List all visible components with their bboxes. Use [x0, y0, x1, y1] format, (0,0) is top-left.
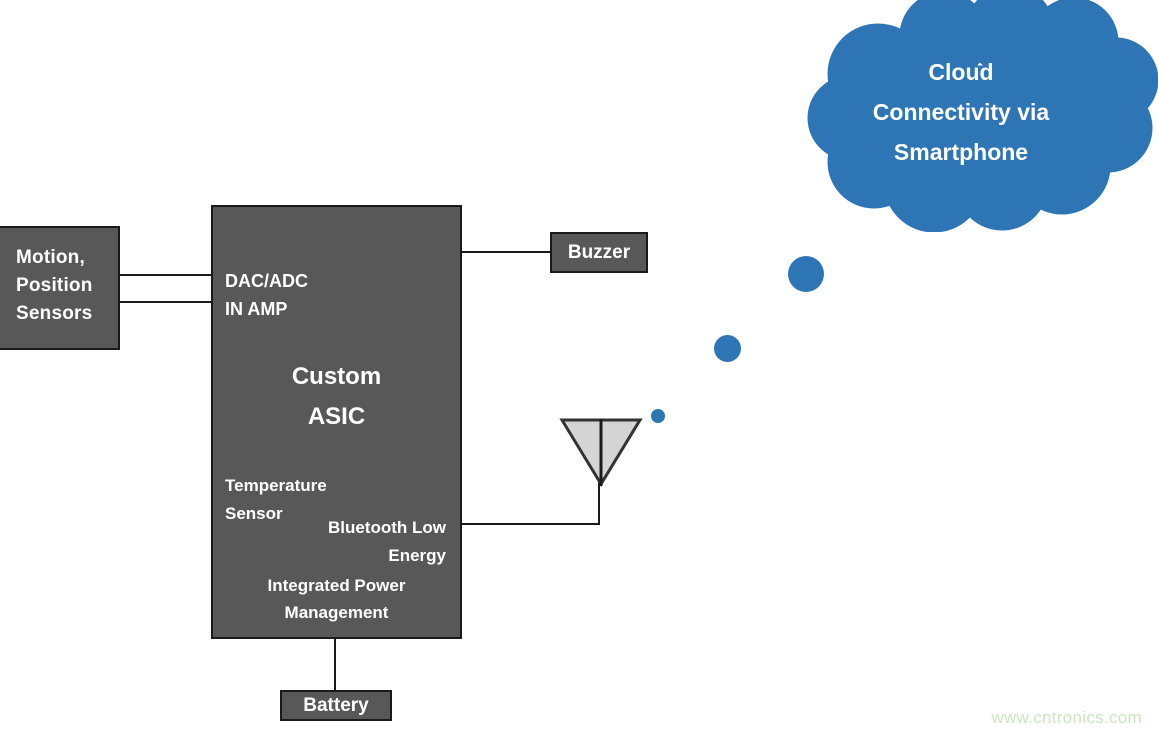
- asic-title-line2: ASIC: [213, 397, 460, 437]
- sensors-label-line1: Motion,: [16, 244, 93, 272]
- wire-asic-to-antenna-horizontal: [460, 523, 600, 525]
- asic-bluetooth-line1: Bluetooth Low: [276, 514, 446, 542]
- asic-bluetooth-line2: Energy: [276, 542, 446, 570]
- wire-asic-to-battery: [334, 637, 336, 692]
- block-buzzer[interactable]: Buzzer: [550, 232, 648, 273]
- block-motion-position-sensors[interactable]: Motion, Position Sensors: [0, 226, 120, 350]
- antenna-icon: [558, 414, 644, 492]
- battery-label: Battery: [303, 695, 368, 716]
- sensors-label-line2: Position: [16, 272, 93, 300]
- block-custom-asic[interactable]: DAC/ADC IN AMP Custom ASIC Temperature S…: [211, 205, 462, 639]
- watermark-text: www.cntronics.com: [991, 708, 1142, 728]
- cloud-shape-icon[interactable]: [786, 0, 1158, 232]
- asic-dacadc-group: DAC/ADC IN AMP: [225, 267, 308, 323]
- asic-bluetooth-low-energy-group: Bluetooth Low Energy: [276, 514, 446, 570]
- asic-integrated-power-management-group: Integrated Power Management: [213, 572, 460, 626]
- sensors-label-group: Motion, Position Sensors: [16, 244, 93, 328]
- asic-dacadc-line2: IN AMP: [225, 295, 308, 323]
- signal-dot-small-icon: [651, 409, 665, 423]
- asic-title-line1: Custom: [213, 357, 460, 397]
- diagram-canvas: Motion, Position Sensors DAC/ADC IN AMP …: [0, 0, 1158, 735]
- signal-dot-large-icon: [788, 256, 824, 292]
- sensors-label-line3: Sensors: [16, 300, 93, 328]
- signal-dot-medium-icon: [714, 335, 741, 362]
- wire-sensors-to-asic-top: [118, 274, 213, 276]
- wire-sensors-to-asic-bottom: [118, 301, 213, 303]
- asic-temperature-line1: Temperature: [225, 472, 327, 500]
- wire-asic-to-buzzer: [460, 251, 552, 253]
- block-battery[interactable]: Battery: [280, 690, 392, 721]
- asic-dacadc-line1: DAC/ADC: [225, 267, 308, 295]
- asic-power-line2: Management: [213, 599, 460, 626]
- buzzer-label: Buzzer: [568, 242, 630, 263]
- asic-power-line1: Integrated Power: [213, 572, 460, 599]
- asic-title-group: Custom ASIC: [213, 357, 460, 437]
